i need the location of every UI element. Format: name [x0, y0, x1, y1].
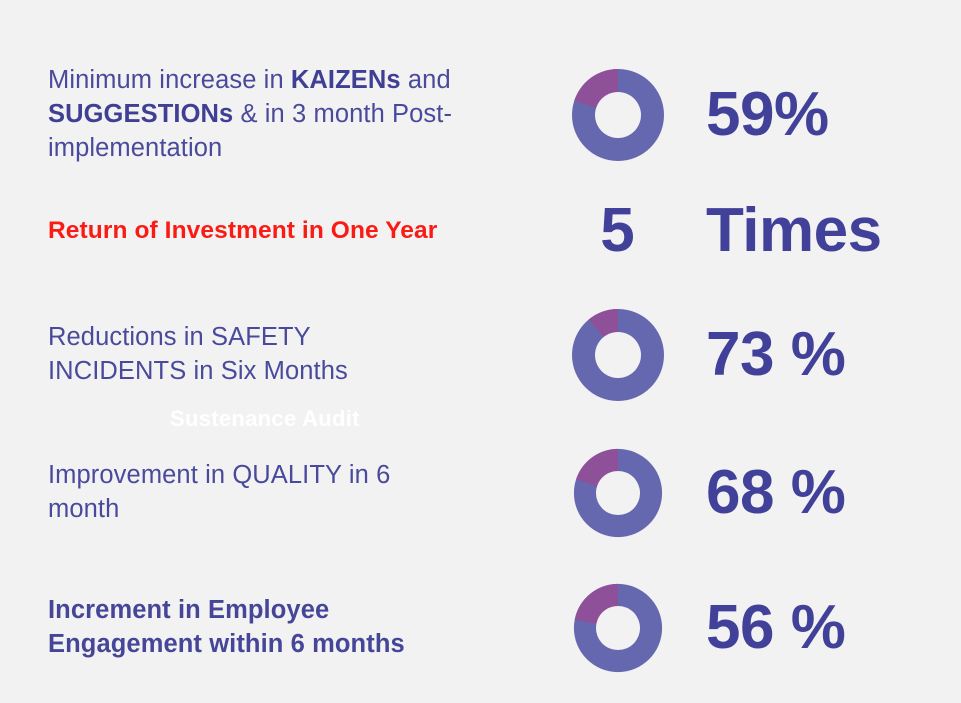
metric-value-employee-engagement: 56 % [706, 597, 961, 659]
infographic-board: Minimum increase in KAIZENs and SUGGESTI… [0, 0, 961, 703]
metric-row-return-of-investment: Return of Investment in One Year 5 Times [0, 200, 961, 262]
metric-row-employee-engagement: Increment in Employee Engagement within … [0, 580, 961, 675]
metric-label-cell: Minimum increase in KAIZENs and SUGGESTI… [0, 64, 545, 166]
metric-value-cell: 73 % [690, 324, 961, 386]
watermark-sustenance-audit: Sustenance Audit [170, 406, 360, 432]
metric-value-kaizens-suggestions: 59% [706, 84, 961, 146]
label-emphasis: SUGGESTIONs [48, 100, 233, 128]
metric-value-safety-incidents: 73 % [706, 324, 961, 386]
donut-chart-safety-incidents [570, 307, 666, 403]
label-plain: and [401, 66, 451, 94]
donut-chart-cell-quality [545, 447, 690, 539]
metric-label-return-of-investment: Return of Investment in One Year [48, 215, 545, 248]
metric-row-quality-improvement: Improvement in QUALITY in 6 month 68 % [0, 445, 961, 540]
metric-value-cell: 68 % [690, 462, 961, 524]
donut-chart-cell-safety [545, 307, 690, 403]
metric-unit-return-of-investment: Times [706, 200, 961, 262]
metric-label-cell: Increment in Employee Engagement within … [0, 594, 545, 662]
donut-chart-employee-engagement [572, 582, 664, 674]
donut-chart-cell-engagement [545, 582, 690, 674]
label-emphasis: KAIZENs [291, 66, 401, 94]
metric-label-employee-engagement: Increment in Employee Engagement within … [48, 594, 438, 662]
metric-row-kaizens-suggestions: Minimum increase in KAIZENs and SUGGESTI… [0, 50, 961, 180]
metric-label-cell: Reductions in SAFETY INCIDENTS in Six Mo… [0, 321, 545, 389]
metric-label-safety-incidents: Reductions in SAFETY INCIDENTS in Six Mo… [48, 321, 348, 389]
metric-label-cell: Improvement in QUALITY in 6 month [0, 459, 545, 527]
donut-chart-cell-kaizens [545, 67, 690, 163]
metric-label-kaizens-suggestions: Minimum increase in KAIZENs and SUGGESTI… [48, 64, 545, 166]
donut-hole [595, 605, 639, 649]
metric-value-quality-improvement: 68 % [706, 462, 961, 524]
donut-hole [595, 92, 641, 138]
donut-chart-quality-improvement [572, 447, 664, 539]
metric-value-cell: 59% [690, 84, 961, 146]
label-plain: Minimum increase in [48, 66, 291, 94]
metric-label-quality-improvement: Improvement in QUALITY in 6 month [48, 459, 443, 527]
metric-label-cell: Return of Investment in One Year [0, 215, 545, 248]
metric-count-return-of-investment: 5 [600, 200, 634, 262]
metric-count-cell: 5 [545, 200, 690, 262]
metric-value-cell: Times [690, 200, 961, 262]
donut-hole [595, 332, 641, 378]
donut-chart-kaizens [570, 67, 666, 163]
donut-hole [595, 470, 639, 514]
metric-value-cell: 56 % [690, 597, 961, 659]
metric-row-safety-incidents: Reductions in SAFETY INCIDENTS in Six Mo… [0, 307, 961, 402]
